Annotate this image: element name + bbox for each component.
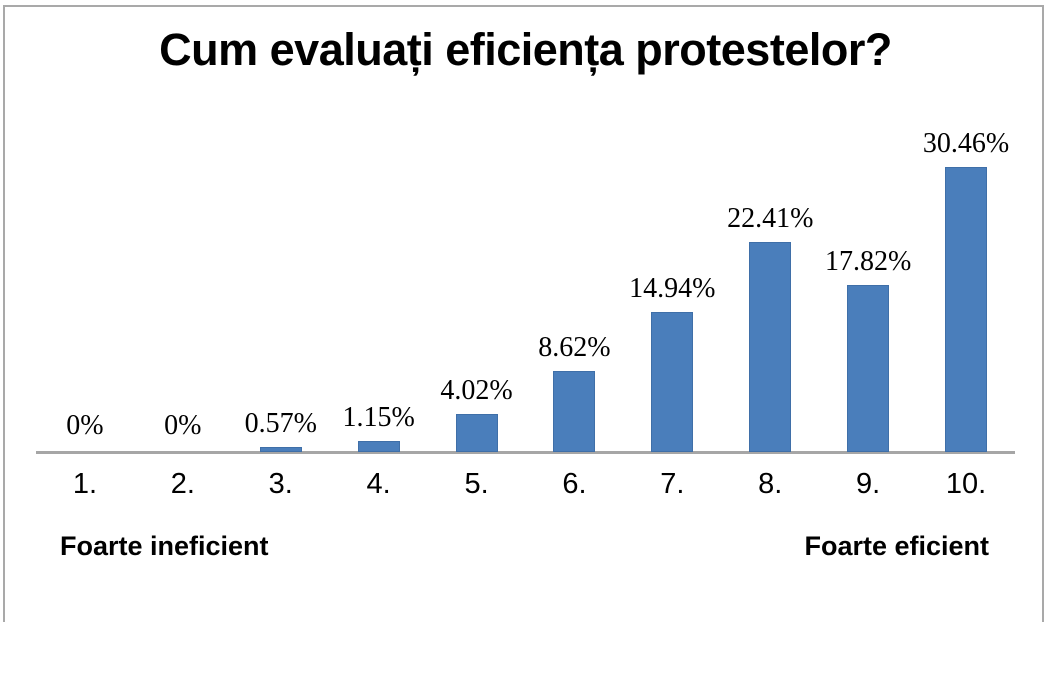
bar-slot: 4.02% [428, 100, 526, 452]
scale-anchor-high: Foarte eficient [804, 531, 989, 562]
bar-slot: 1.15% [330, 100, 428, 452]
category-axis-labels: 1. 2. 3. 4. 5. 6. 7. 8. 9. 10. [36, 468, 1015, 504]
category-label: 3. [232, 468, 330, 501]
bar-slot: 30.46% [917, 100, 1015, 452]
slide-canvas: Cum evaluați eficiența protestelor? 0% 0… [0, 0, 1051, 700]
bar-value-label: 8.62% [538, 334, 610, 362]
category-label: 2. [134, 468, 232, 501]
bar[interactable] [456, 414, 498, 452]
category-label: 5. [428, 468, 526, 501]
category-label: 7. [623, 468, 721, 501]
bar-value-label: 4.02% [440, 377, 512, 405]
bar-value-label: 17.82% [825, 248, 911, 276]
bar[interactable] [358, 441, 400, 452]
bar-slot: 14.94% [623, 100, 721, 452]
bar-value-label: 22.41% [727, 205, 813, 233]
bar-slot: 8.62% [526, 100, 624, 452]
bar-value-label: 30.46% [923, 130, 1009, 158]
category-label: 9. [819, 468, 917, 501]
category-label: 10. [917, 468, 1015, 501]
bar-slot: 22.41% [721, 100, 819, 452]
page-title: Cum evaluați eficiența protestelor? [0, 24, 1051, 76]
bar[interactable] [260, 447, 302, 452]
bar[interactable] [847, 285, 889, 452]
category-label: 1. [36, 468, 134, 501]
bar-slot: 0.57% [232, 100, 330, 452]
bar[interactable] [553, 371, 595, 452]
bar-value-label: 0% [164, 412, 201, 440]
bar[interactable] [945, 167, 987, 452]
bar[interactable] [749, 242, 791, 452]
bar-value-label: 14.94% [629, 275, 715, 303]
bar-slot: 0% [134, 100, 232, 452]
bar-value-label: 1.15% [342, 404, 414, 432]
scale-anchor-low: Foarte ineficient [60, 531, 269, 562]
chart-plot-area: 0% 0% 0.57% 1.15% 4.02% 8.62% 14.94% [36, 100, 1015, 452]
bar-slot: 0% [36, 100, 134, 452]
category-label: 4. [330, 468, 428, 501]
category-label: 6. [526, 468, 624, 501]
bar-value-label: 0% [66, 412, 103, 440]
category-label: 8. [721, 468, 819, 501]
bar[interactable] [651, 312, 693, 452]
bar-value-label: 0.57% [245, 410, 317, 438]
bar-slot: 17.82% [819, 100, 917, 452]
